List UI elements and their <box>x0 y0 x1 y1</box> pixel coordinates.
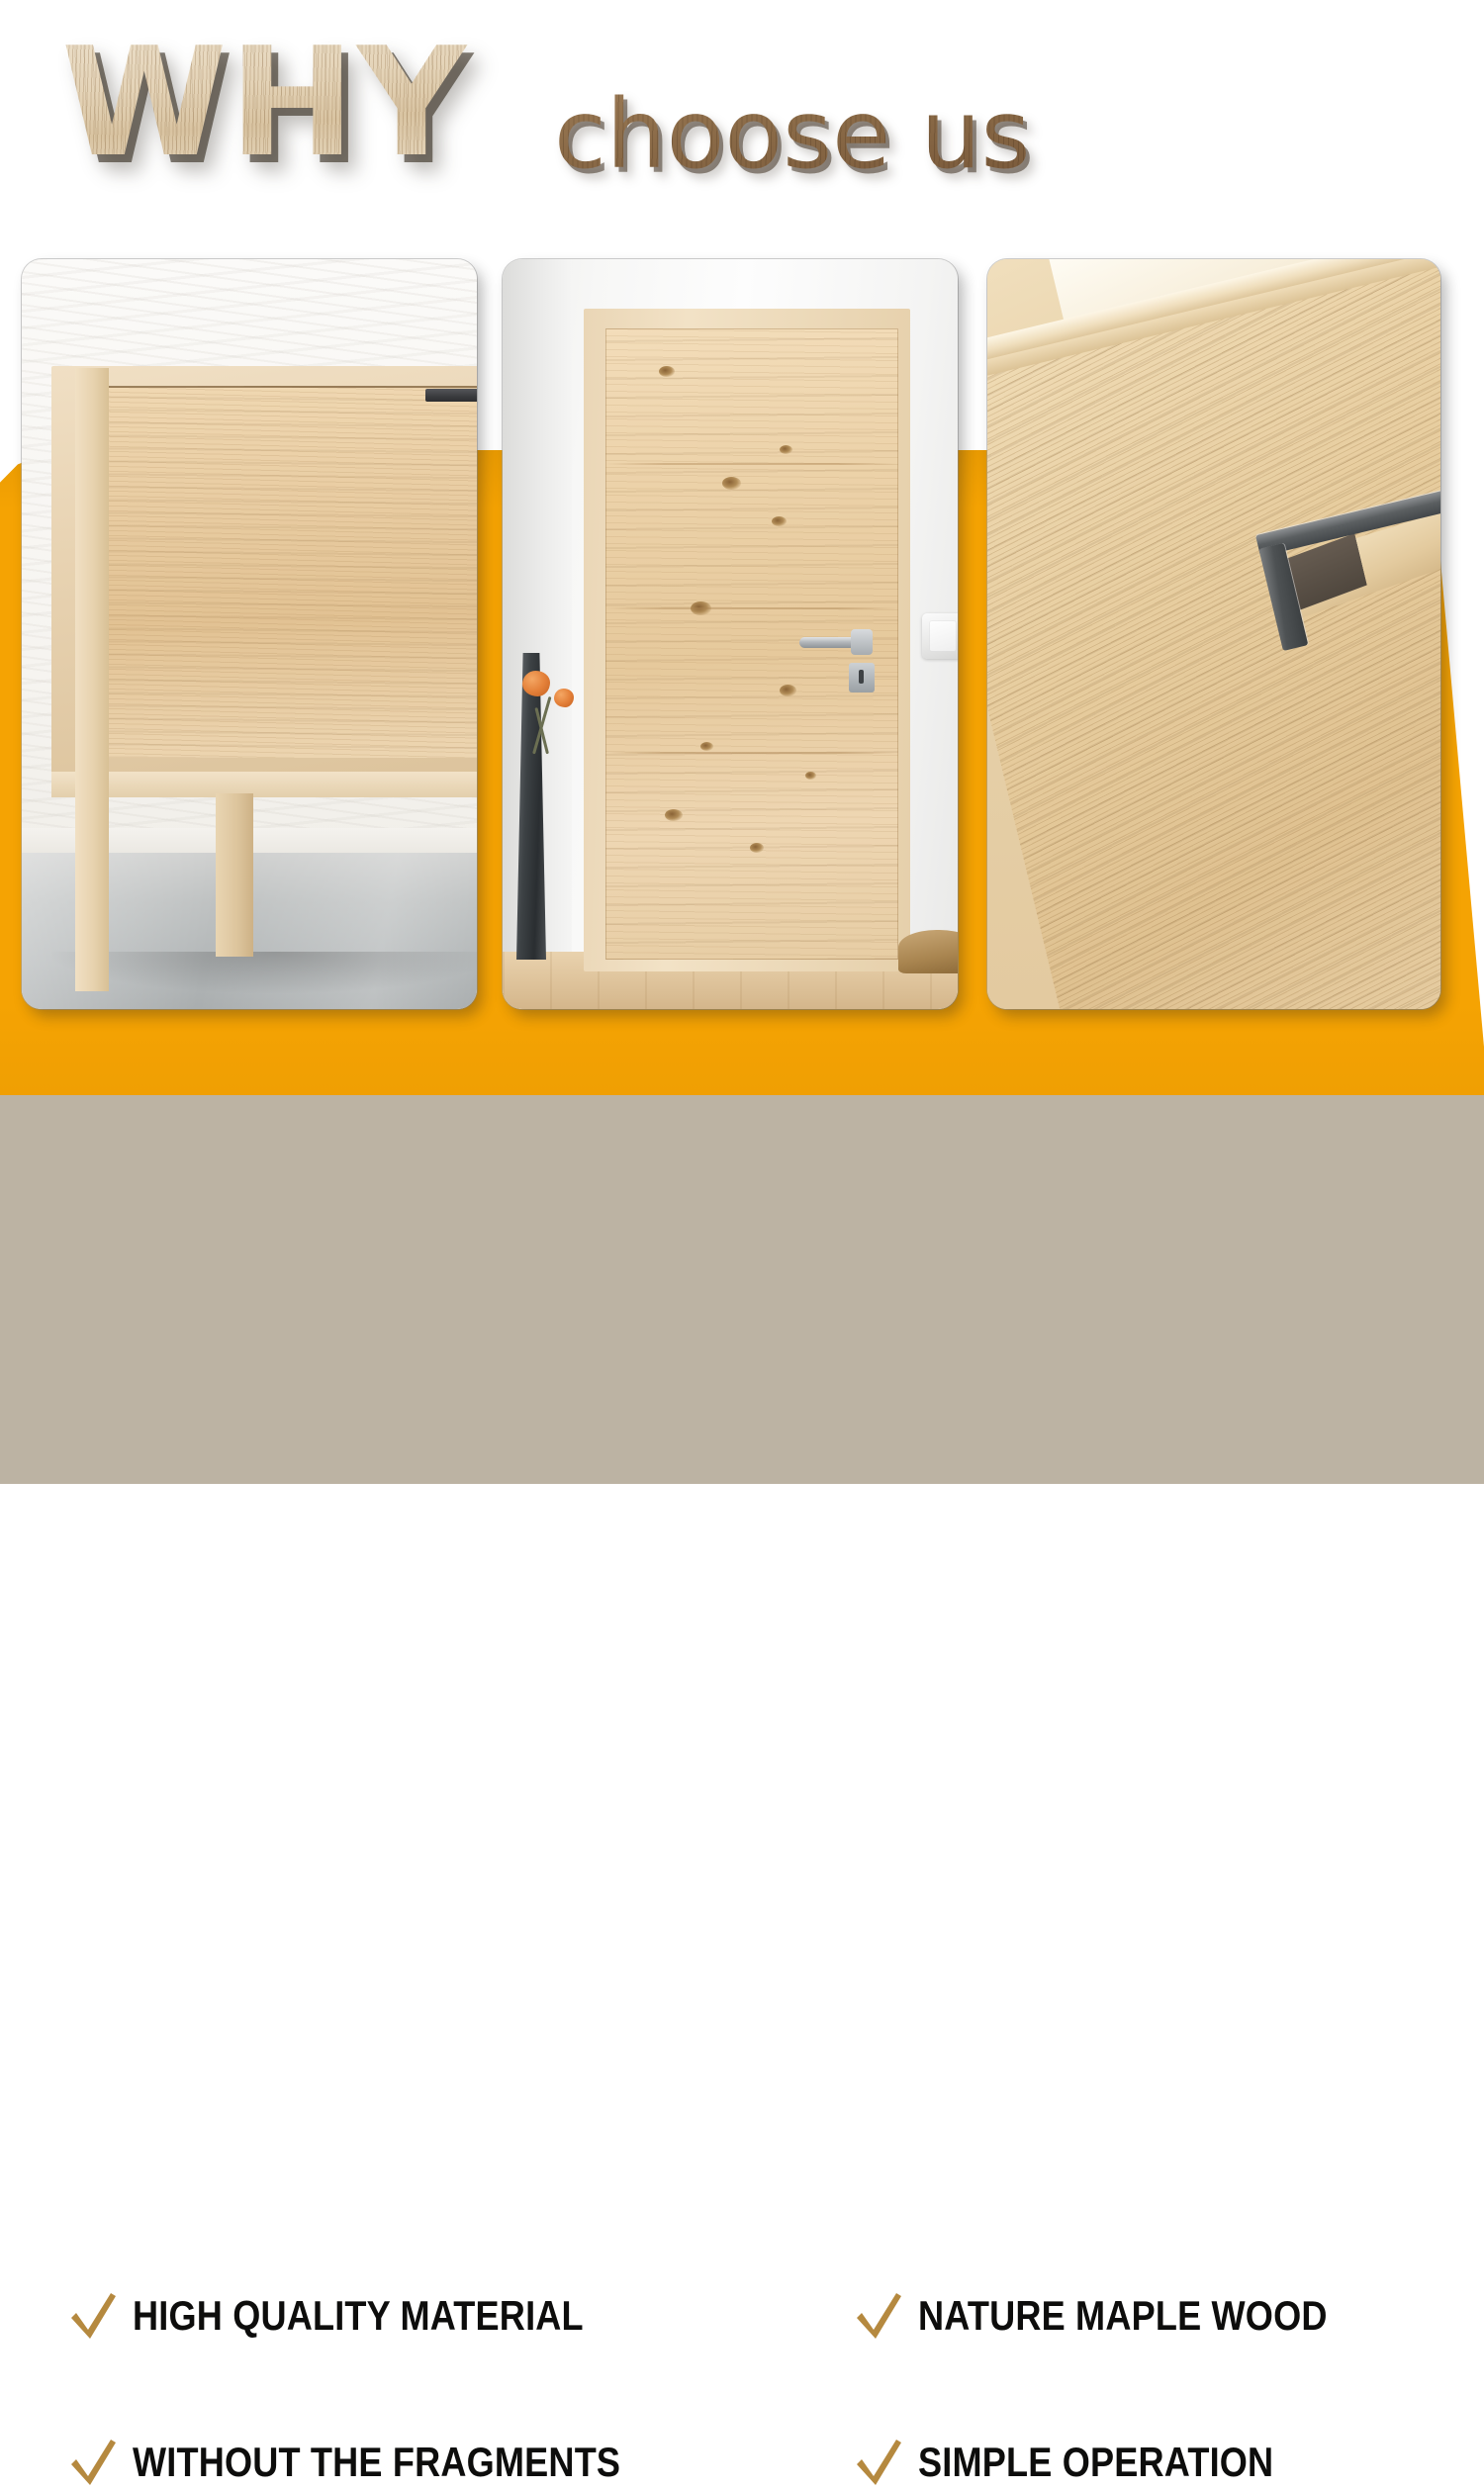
cabinet-center-leg <box>216 793 253 957</box>
door-grain-seam <box>605 463 898 465</box>
gallery-card-oak-sideboard[interactable] <box>22 259 477 1009</box>
dried-poppy-bloom <box>522 671 550 696</box>
dried-poppy-bloom <box>554 689 574 707</box>
wood-knot <box>780 685 796 696</box>
feature-label: SIMPLE OPERATION <box>918 2439 1273 2486</box>
drawer-front-face <box>987 259 1440 1009</box>
cabinet-bar-handle <box>425 389 477 402</box>
handle-rose-plate <box>851 629 873 655</box>
cabinet-bottom-rail <box>51 772 477 797</box>
headline-accent-word: WHY <box>61 28 468 178</box>
door-grain-seam <box>605 752 898 754</box>
wood-knot <box>750 843 764 853</box>
features-list: HIGH QUALITY MATERIAL NATURE MAPLE WOOD … <box>0 1095 1484 1484</box>
gallery-card-handle-detail[interactable] <box>987 259 1440 1009</box>
headline-rest-text: choose us <box>554 87 1031 182</box>
feature-label: WITHOUT THE FRAGMENTS <box>133 2439 620 2486</box>
wooden-stool <box>898 930 958 973</box>
light-switch <box>922 613 958 659</box>
gallery-card-oak-door[interactable] <box>503 259 958 1009</box>
check-icon <box>853 2287 904 2345</box>
door-grain-seam <box>605 607 898 609</box>
wood-knot <box>659 366 675 377</box>
cabinet-door-panel <box>77 386 477 758</box>
wood-knot <box>722 477 741 490</box>
wood-knot <box>665 809 683 821</box>
check-icon <box>853 2434 904 2491</box>
feature-item-simple-operation: SIMPLE OPERATION <box>853 2434 1332 2491</box>
wood-knot <box>805 772 816 780</box>
wood-knot <box>700 742 713 751</box>
wood-knot <box>780 445 792 454</box>
feature-label: NATURE MAPLE WOOD <box>918 2292 1328 2340</box>
feature-item-high-quality-material: HIGH QUALITY MATERIAL <box>67 2287 657 2345</box>
feature-label: HIGH QUALITY MATERIAL <box>133 2292 584 2340</box>
wood-knot <box>772 516 787 526</box>
check-icon <box>67 2434 119 2491</box>
header-banner: WHY choose us <box>0 0 1484 237</box>
door-lock-cylinder <box>849 663 875 692</box>
feature-item-without-the-fragments: WITHOUT THE FRAGMENTS <box>67 2434 699 2491</box>
cabinet-floor-shadow <box>51 952 477 993</box>
infographic-canvas: WHY choose us <box>0 0 1484 1484</box>
check-icon <box>67 2287 119 2345</box>
feature-item-nature-maple-wood: NATURE MAPLE WOOD <box>853 2287 1394 2345</box>
cabinet-left-leg <box>75 368 109 991</box>
